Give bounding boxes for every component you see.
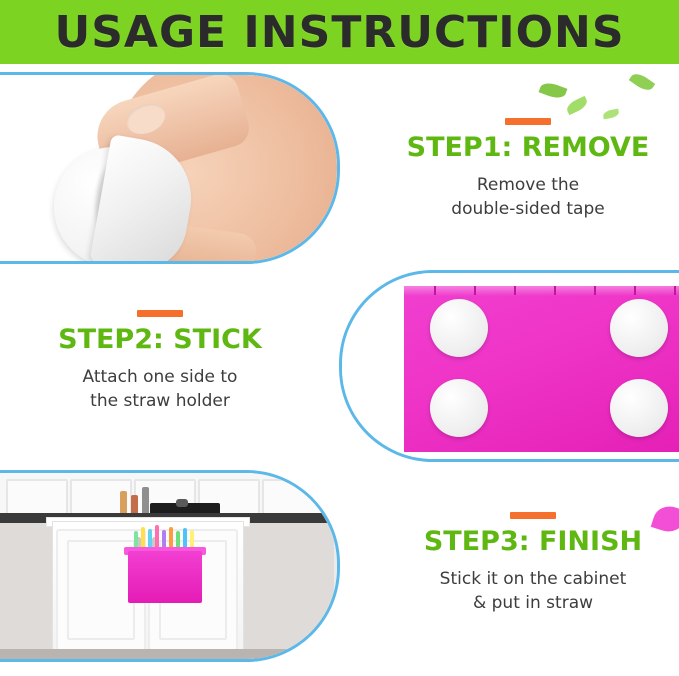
straw-holder [128, 551, 202, 603]
holder-top-tabs [404, 286, 679, 295]
adhesive-peel-photo [0, 72, 340, 264]
cooktop-pan [176, 499, 188, 507]
step-divider-dash [505, 118, 551, 125]
adhesive-disc [430, 379, 488, 437]
counter-bottle [142, 487, 149, 513]
step-2-description: Attach one side to the straw holder [26, 365, 294, 413]
step-3-title: STEP3: FINISH [400, 527, 666, 557]
step-3-description: Stick it on the cabinet & put in straw [400, 567, 666, 615]
kitchen-install-photo [0, 470, 340, 662]
step-1-description: Remove the double-sided tape [392, 173, 664, 221]
usage-instructions-infographic: USAGE INSTRUCTIONS [0, 0, 679, 676]
leaf-icon [629, 70, 656, 94]
step-divider-dash [510, 512, 556, 519]
step-2-title: STEP2: STICK [26, 325, 294, 355]
counter-bottle [120, 491, 127, 513]
adhesive-disc [610, 299, 668, 357]
counter-bottle [131, 495, 138, 513]
leaf-icon [565, 96, 590, 115]
leaf-icon [539, 80, 568, 101]
disc-edge [118, 261, 123, 264]
step-1-block: STEP1: REMOVE Remove the double-sided ta… [392, 118, 664, 221]
adhesive-disc [430, 299, 488, 357]
step-2-block: STEP2: STICK Attach one side to the stra… [26, 310, 294, 413]
floor [0, 649, 334, 662]
step-1-title: STEP1: REMOVE [392, 133, 664, 163]
page-title: USAGE INSTRUCTIONS [0, 0, 679, 64]
step-divider-dash [137, 310, 183, 317]
step-3-block: STEP3: FINISH Stick it on the cabinet & … [400, 512, 666, 615]
holder-back-photo [339, 270, 679, 462]
adhesive-disc [610, 379, 668, 437]
